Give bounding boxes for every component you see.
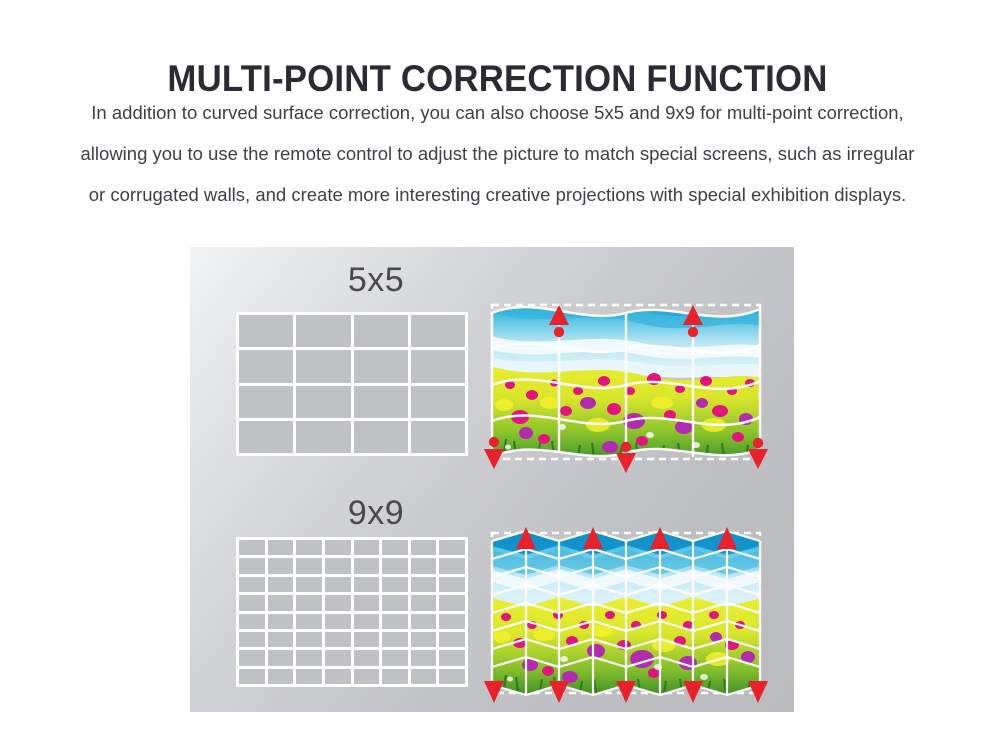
grid-cell (354, 386, 408, 418)
grid-cell (325, 669, 351, 684)
grid-cell (325, 614, 351, 629)
grid-cell (354, 350, 408, 382)
grid-cell (239, 632, 265, 647)
grid-cell (296, 558, 322, 573)
warped-projection-5x5 (492, 299, 760, 471)
grid-cell (239, 614, 265, 629)
label-5x5: 5x5 (236, 261, 516, 300)
intro-line-3: or corrugated walls, and create more int… (12, 174, 983, 215)
grid-cell (296, 386, 350, 418)
grid-cell (382, 577, 408, 592)
grid-cell (354, 315, 408, 347)
grid-cell (268, 614, 294, 629)
grid-cell (439, 558, 465, 573)
grid-cell (239, 350, 293, 382)
grid-cell (411, 595, 437, 610)
grid-cell (354, 650, 380, 665)
grid-cell (354, 614, 380, 629)
grid-cell (268, 650, 294, 665)
grid-cell (296, 577, 322, 592)
grid-cell (268, 558, 294, 573)
grid-cell (411, 421, 465, 453)
grid-cell (296, 669, 322, 684)
grid-cell (354, 669, 380, 684)
grid-cell (439, 650, 465, 665)
grid-cell (439, 614, 465, 629)
grid-cell (239, 669, 265, 684)
adjust-arrow-down-icon[interactable] (683, 681, 703, 703)
grid-cell (296, 540, 322, 555)
grid-cell (325, 540, 351, 555)
grid-cell (354, 558, 380, 573)
grid-cell (239, 315, 293, 347)
grid-cell (325, 595, 351, 610)
grid-cell (239, 650, 265, 665)
grid-cell (354, 595, 380, 610)
grid-cell (411, 315, 465, 347)
intro-paragraph: In addition to curved surface correction… (12, 92, 983, 215)
grid-cell (382, 669, 408, 684)
grid-cell (411, 350, 465, 382)
grid-cell (296, 421, 350, 453)
grid-cell (382, 632, 408, 647)
grid-cell (296, 350, 350, 382)
grid-cell (439, 669, 465, 684)
grid-cell (268, 632, 294, 647)
grid-cell (296, 595, 322, 610)
grid-cell (354, 421, 408, 453)
flat-grid-5x5 (236, 312, 468, 456)
grid-cell (296, 650, 322, 665)
illustration-panel: 5x5 (190, 247, 794, 712)
grid-cell (411, 577, 437, 592)
grid-cell (439, 540, 465, 555)
flat-grid-9x9 (236, 537, 468, 687)
grid-cell (382, 558, 408, 573)
grid-cell (411, 650, 437, 665)
grid-cell (325, 632, 351, 647)
grid-cell (239, 421, 293, 453)
grid-cell (411, 540, 437, 555)
grid-cell (411, 669, 437, 684)
grid-cell (439, 632, 465, 647)
grid-cell (268, 540, 294, 555)
grid-cell (239, 558, 265, 573)
section-5x5: 5x5 (190, 247, 794, 480)
grid-cell (268, 595, 294, 610)
intro-line-2: allowing you to use the remote control t… (12, 133, 983, 174)
grid-cell (382, 614, 408, 629)
grid-cell (296, 614, 322, 629)
grid-cell (239, 540, 265, 555)
grid-cell (439, 577, 465, 592)
grid-cell (296, 632, 322, 647)
grid-cell (296, 315, 350, 347)
grid-cell (325, 558, 351, 573)
grid-cell (411, 558, 437, 573)
grid-cell (268, 669, 294, 684)
grid-cell (382, 650, 408, 665)
page-root: MULTI-POINT CORRECTION FUNCTION In addit… (0, 0, 995, 751)
grid-cell (354, 632, 380, 647)
grid-cell (239, 386, 293, 418)
grid-cell (382, 595, 408, 610)
intro-line-1: In addition to curved surface correction… (12, 92, 983, 133)
grid-cell (239, 595, 265, 610)
grid-cell (268, 577, 294, 592)
grid-cell (239, 577, 265, 592)
section-9x9: 9x9 (190, 480, 794, 712)
label-9x9: 9x9 (236, 494, 516, 533)
grid-cell (411, 632, 437, 647)
grid-cell (411, 614, 437, 629)
grid-cell (325, 650, 351, 665)
grid-cell (354, 540, 380, 555)
grid-cell (325, 577, 351, 592)
warped-projection-9x9 (492, 525, 760, 705)
grid-cell (382, 540, 408, 555)
grid-cell (411, 386, 465, 418)
grid-cell (354, 577, 380, 592)
grid-cell (439, 595, 465, 610)
